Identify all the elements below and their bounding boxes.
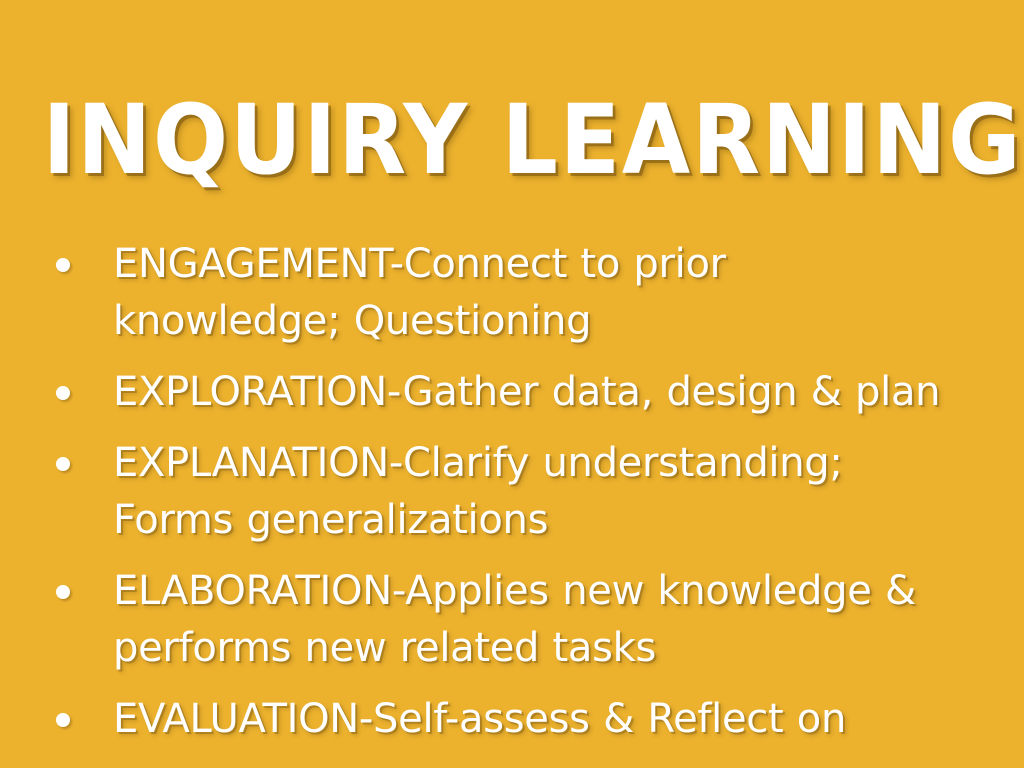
title-block: INQUIRY LEARNING: [0, 26, 1024, 255]
page-title: INQUIRY LEARNING: [43, 90, 1023, 190]
list-item: EVALUATION-Self-assess & Reflect on: [56, 691, 956, 748]
list-item: ELABORATION-Applies new knowledge & perf…: [56, 563, 956, 677]
list-item-text: ENGAGEMENT-Connect to prior knowledge; Q…: [113, 236, 956, 350]
bullet-dot-icon: [56, 713, 70, 727]
list-item: ENGAGEMENT-Connect to prior knowledge; Q…: [56, 236, 956, 350]
bullet-dot-icon: [56, 258, 70, 272]
list-item: EXPLORATION-Gather data, design & plan: [56, 364, 956, 421]
presentation-slide: INQUIRY LEARNING ENGAGEMENT-Connect to p…: [0, 0, 1024, 768]
bullet-dot-icon: [56, 386, 70, 400]
list-item-text: EVALUATION-Self-assess & Reflect on: [113, 691, 956, 748]
list-item-text: EXPLORATION-Gather data, design & plan: [113, 364, 956, 421]
list-item: EXPLANATION-Clarify understanding; Forms…: [56, 435, 956, 549]
list-item-text: EXPLANATION-Clarify understanding; Forms…: [113, 435, 956, 549]
list-item-text: ELABORATION-Applies new knowledge & perf…: [113, 563, 956, 677]
bullet-list: ENGAGEMENT-Connect to prior knowledge; Q…: [56, 236, 956, 762]
bullet-dot-icon: [56, 585, 70, 599]
bullet-dot-icon: [56, 457, 70, 471]
